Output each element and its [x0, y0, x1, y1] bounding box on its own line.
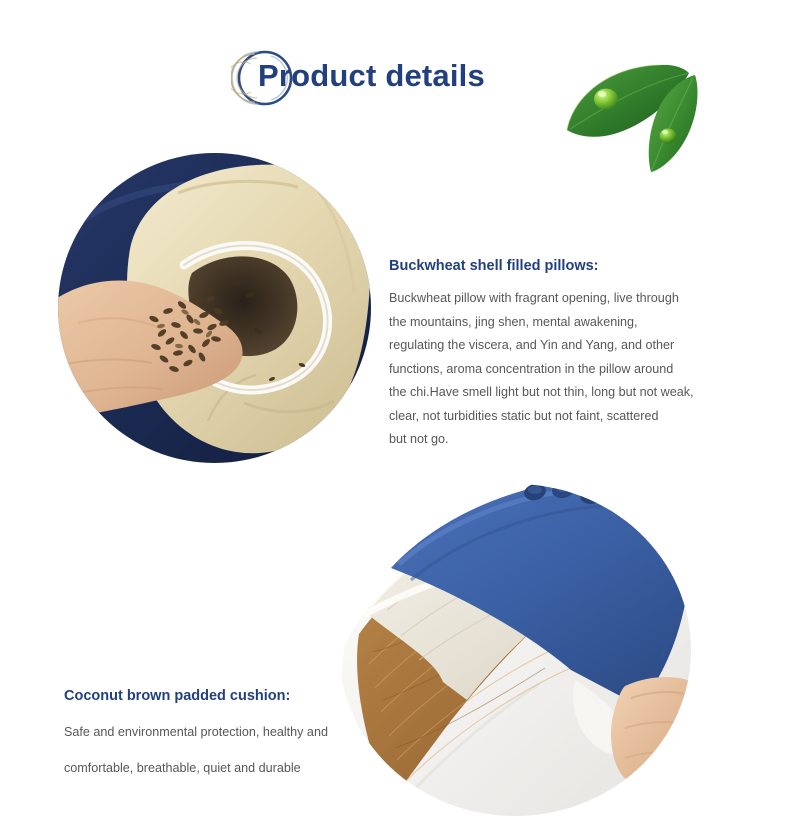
- section-heading-cushion: Coconut brown padded cushion:: [64, 688, 290, 704]
- copy-line: Safe and environmental protection, healt…: [64, 714, 364, 750]
- page-header: Product details: [0, 0, 800, 160]
- coconut-coir-cushion-layers-photo: [339, 484, 691, 816]
- copy-line: comfortable, breathable, quiet and durab…: [64, 750, 364, 786]
- two-leaves-with-dew-drops-icon: [564, 42, 740, 174]
- copy-line: the mountains, jing shen, mental awakeni…: [389, 311, 689, 335]
- section-body-cushion: Safe and environmental protection, healt…: [64, 714, 364, 786]
- copy-line: functions, aroma concentration in the pi…: [389, 358, 689, 382]
- copy-line: regulating the viscera, and Yin and Yang…: [389, 334, 689, 358]
- section-body-buckwheat: Buckwheat pillow with fragrant opening, …: [389, 287, 689, 452]
- copy-line: the chi.Have smell light but not thin, l…: [389, 381, 689, 405]
- product-details-page: Product details: [0, 0, 800, 838]
- copy-line: clear, not turbidities static but not fa…: [389, 405, 689, 429]
- buckwheat-shell-pillow-photo: [58, 153, 371, 463]
- page-title: Product details: [258, 58, 485, 94]
- section-heading-buckwheat: Buckwheat shell filled pillows:: [389, 258, 599, 274]
- copy-line: Buckwheat pillow with fragrant opening, …: [389, 287, 689, 311]
- copy-line: but not go.: [389, 428, 689, 452]
